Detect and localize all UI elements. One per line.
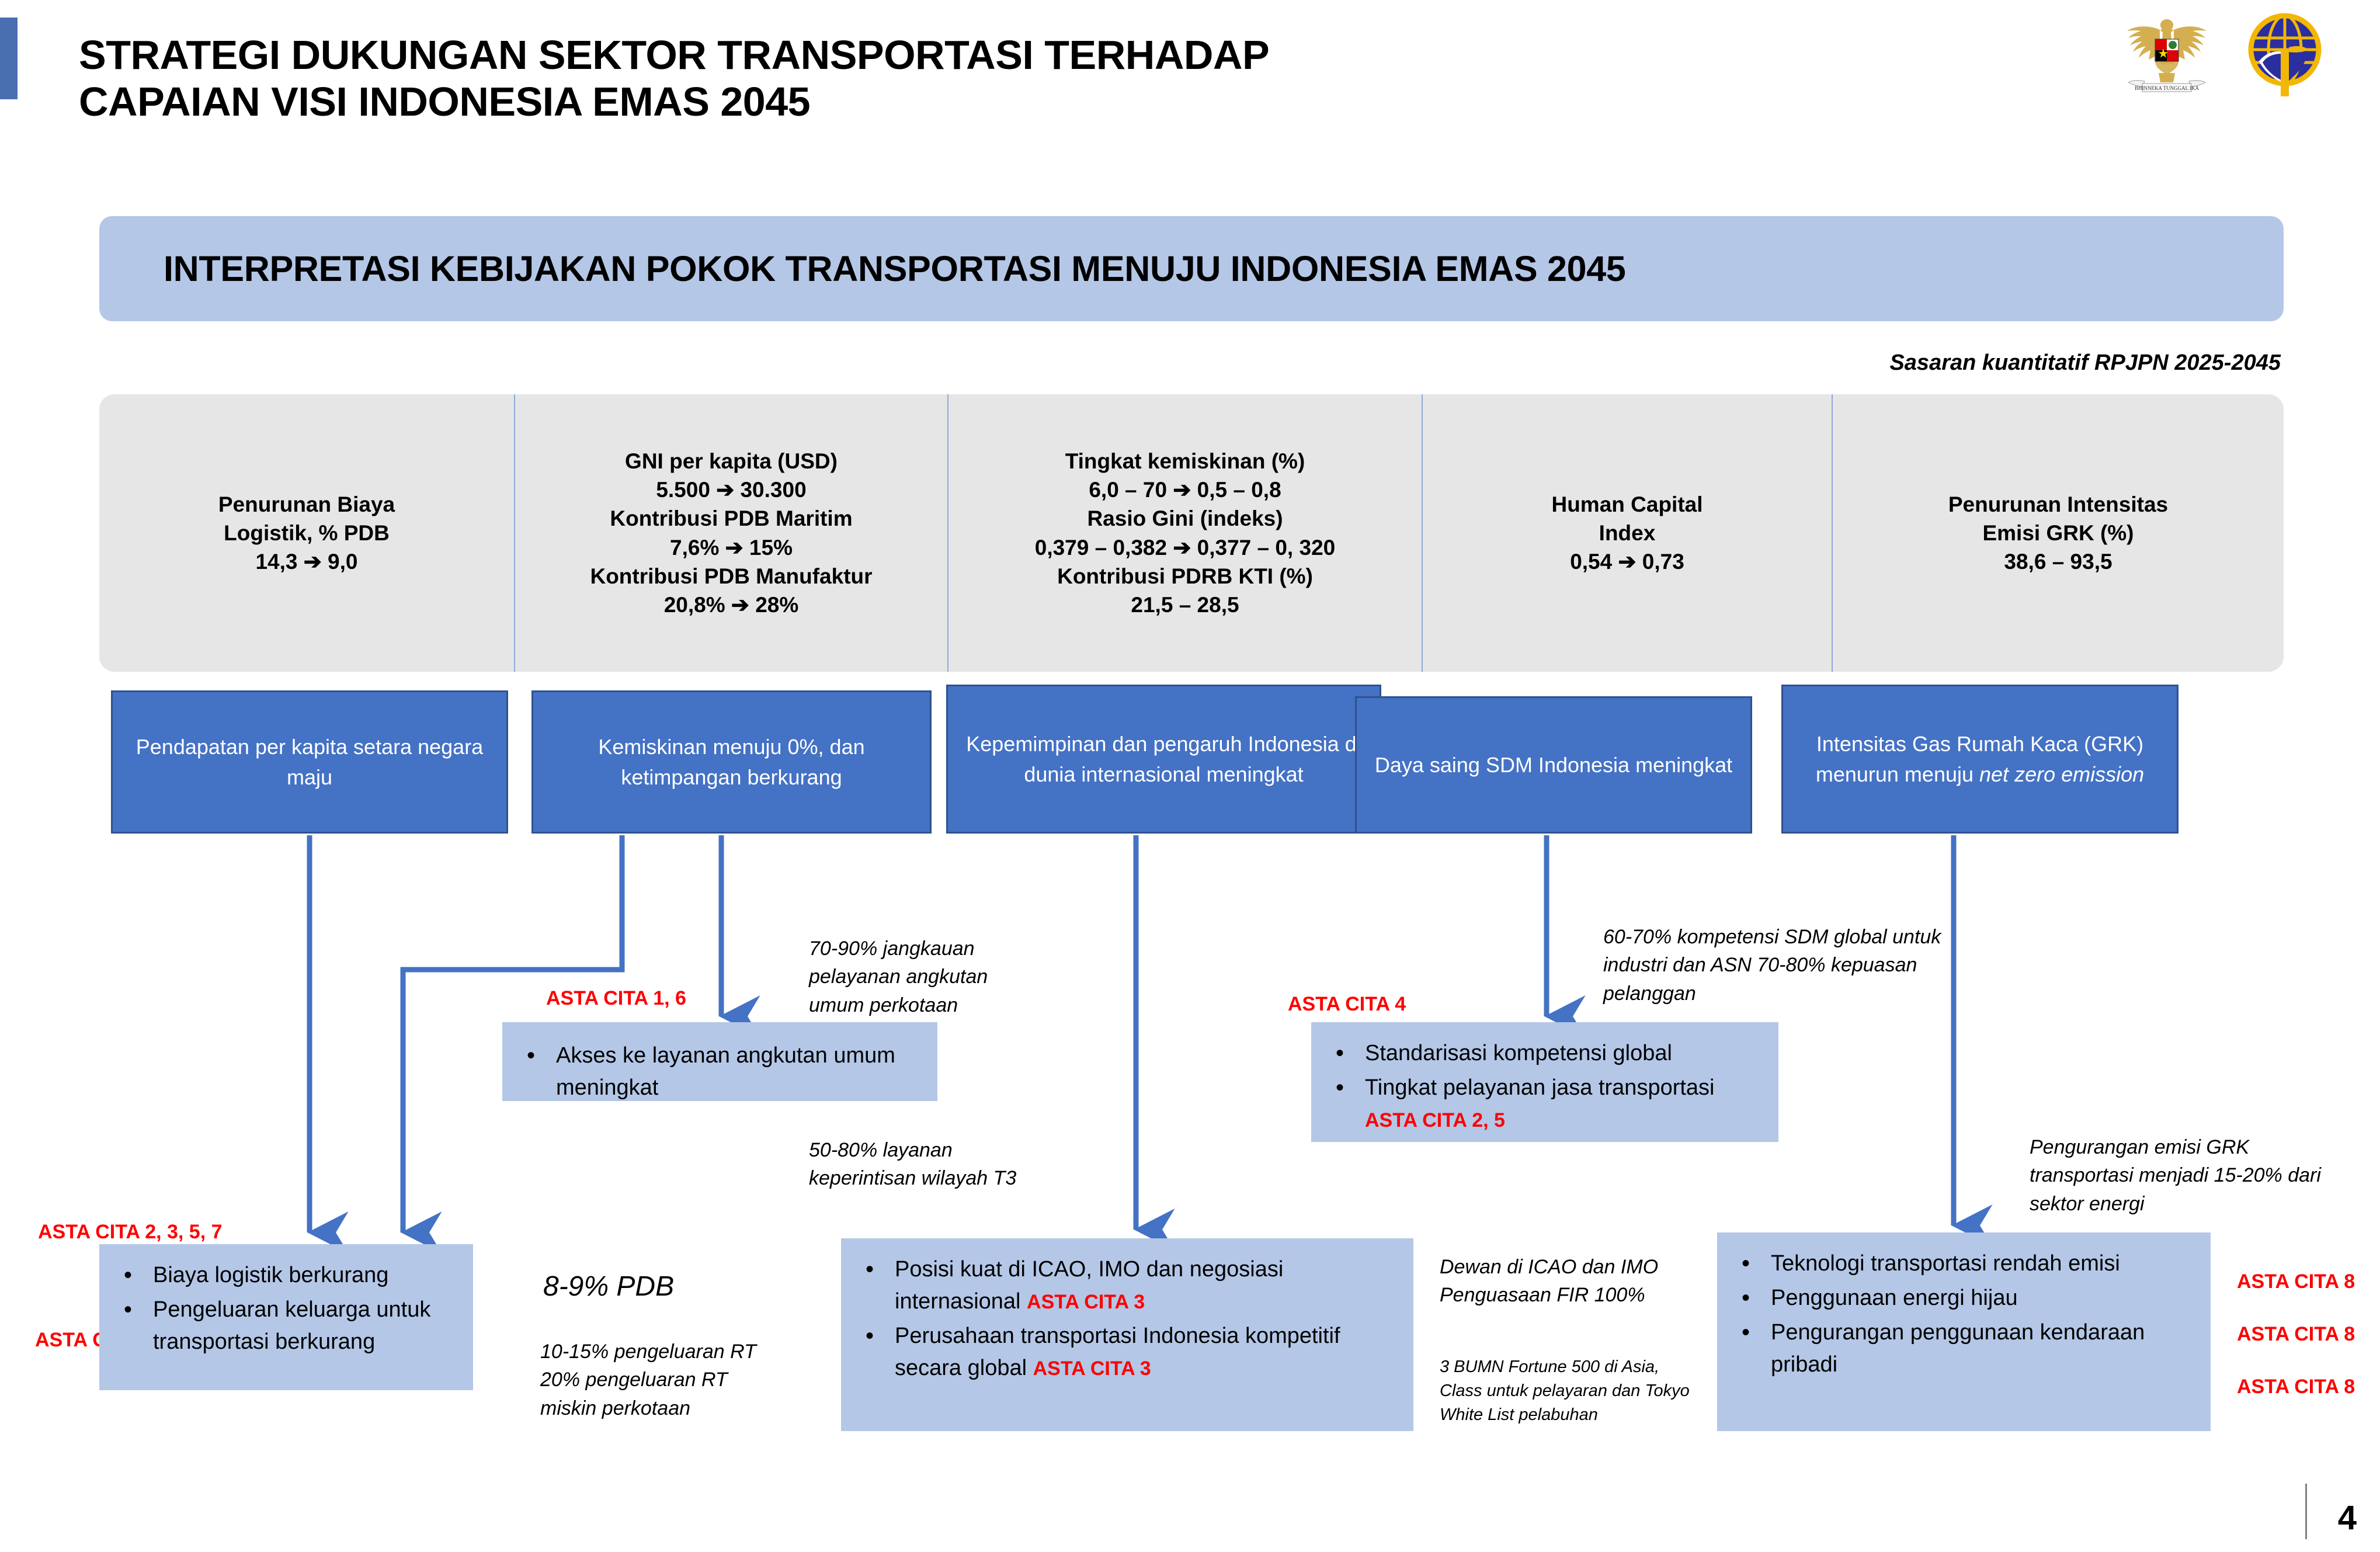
list-item: Penggunaan energi hijau (1771, 1282, 2191, 1314)
asta-cita-label-grk-1: ASTA CITA 8 (2237, 1270, 2355, 1293)
outcome-box-kepemimpinan[interactable]: Kepemimpinan dan pengaruh Indonesia di d… (946, 685, 1381, 834)
section-banner: INTERPRETASI KEBIJAKAN POKOK TRANSPORTAS… (99, 216, 2284, 321)
kpi-line: Penurunan Biaya (218, 490, 395, 519)
kpi-line: Kontribusi PDB Manufaktur (590, 562, 872, 591)
strategy-box-akses[interactable]: Akses ke layanan angkutan umum meningkat (502, 1022, 937, 1101)
strategy-box-sdm[interactable]: Standarisasi kompetensi global Tingkat p… (1311, 1022, 1778, 1142)
logo-row: BHINNEKA TUNGGAL IKA (2120, 9, 2330, 99)
outcome-box-kemiskinan[interactable]: Kemiskinan menuju 0%, dan ketimpangan be… (531, 690, 932, 834)
kpi-line: Kontribusi PDRB KTI (%) (1057, 562, 1313, 591)
kpi-line: Index (1599, 519, 1656, 547)
outcome-box-label: Kemiskinan menuju 0%, dan ketimpangan be… (547, 732, 916, 791)
list-item: Biaya logistik berkurang (153, 1259, 453, 1291)
annotation-bumn-fortune: 3 BUMN Fortune 500 di Asia, Class untuk … (1440, 1355, 1691, 1428)
sasaran-label: Sasaran kuantitatif RPJPN 2025-2045 (1889, 350, 2281, 376)
outcome-box-label-italic: net zero emission (1979, 762, 2144, 786)
kpi-line: GNI per kapita (USD) (625, 447, 838, 475)
list-item: Perusahaan transportasi Indonesia kompet… (895, 1320, 1394, 1384)
kpi-cell-gni: GNI per kapita (USD) 5.500 ➔ 30.300 Kont… (514, 394, 947, 672)
strategy-box-grk[interactable]: Teknologi transportasi rendah emisi Peng… (1717, 1232, 2211, 1431)
kpi-line: Emisi GRK (%) (1982, 519, 2134, 547)
kpi-line: 5.500 ➔ 30.300 (656, 475, 806, 504)
asta-cita-label-sdm: ASTA CITA 4 (1288, 993, 1406, 1016)
page-title: STRATEGI DUKUNGAN SEKTOR TRANSPORTASI TE… (79, 32, 1773, 126)
outcome-box-label: Daya saing SDM Indonesia meningkat (1375, 750, 1732, 780)
outcome-box-label: Kepemimpinan dan pengaruh Indonesia di d… (962, 729, 1366, 789)
banner-title: INTERPRETASI KEBIJAKAN POKOK TRANSPORTAS… (99, 248, 1626, 289)
asta-cita-inline-icao-1: ASTA CITA 3 (1027, 1291, 1145, 1313)
list-item: Pengurangan penggunaan kendaraan pribadi (1771, 1317, 2191, 1381)
kpi-line: 0,379 – 0,382 ➔ 0,377 – 0, 320 (1035, 533, 1335, 562)
asta-cita-label-grk-3: ASTA CITA 8 (2237, 1376, 2355, 1398)
kpi-cell-hci: Human Capital Index 0,54 ➔ 0,73 (1422, 394, 1832, 672)
annotation-icao-imo: Dewan di ICAO dan IMO Penguasaan FIR 100… (1440, 1253, 1691, 1310)
kpi-line: 38,6 – 93,5 (2004, 547, 2112, 576)
kpi-line: Logistik, % PDB (224, 519, 390, 547)
annotation-emisi-grk: Pengurangan emisi GRK transportasi menja… (2030, 1133, 2322, 1218)
annotation-kompetensi-sdm: 60-70% kompetensi SDM global untuk indus… (1603, 923, 1965, 1008)
annotation-pengeluaran-rt: 10-15% pengeluaran RT 20% pengeluaran RT… (540, 1338, 786, 1422)
annotation-pdb-big: 8-9% PDB (543, 1270, 674, 1303)
asta-cita-label-grk-2: ASTA CITA 8 (2237, 1323, 2355, 1346)
kpi-cell-emisi: Penurunan Intensitas Emisi GRK (%) 38,6 … (1832, 394, 2284, 672)
asta-cita-inline-icao-2: ASTA CITA 3 (1033, 1357, 1151, 1380)
kpi-band: Penurunan Biaya Logistik, % PDB 14,3 ➔ 9… (99, 394, 2284, 672)
outcome-box-label: Intensitas Gas Rumah Kaca (GRK) menurun … (1797, 729, 2163, 789)
asta-cita-label-logistik-top: ASTA CITA 2, 3, 5, 7 (38, 1221, 223, 1244)
outcome-box-daya-saing-sdm[interactable]: Daya saing SDM Indonesia meningkat (1355, 696, 1752, 834)
kpi-line: 7,6% ➔ 15% (670, 533, 793, 562)
kpi-line: 0,54 ➔ 0,73 (1570, 547, 1684, 576)
footer-divider (2305, 1484, 2307, 1539)
page-title-line-2: CAPAIAN VISI INDONESIA EMAS 2045 (79, 79, 1773, 126)
kpi-cell-kemiskinan: Tingkat kemiskinan (%) 6,0 – 70 ➔ 0,5 – … (947, 394, 1422, 672)
page-title-line-1: STRATEGI DUKUNGAN SEKTOR TRANSPORTASI TE… (79, 32, 1773, 79)
kpi-line: Tingkat kemiskinan (%) (1065, 447, 1305, 475)
ministry-of-transportation-globe-icon (2240, 9, 2330, 99)
list-item: Standarisasi kompetensi global (1365, 1037, 1759, 1070)
outcome-box-label: Pendapatan per kapita setara negara maju (127, 732, 492, 791)
kpi-line: 6,0 – 70 ➔ 0,5 – 0,8 (1089, 475, 1281, 504)
kpi-line: 21,5 – 28,5 (1131, 591, 1239, 619)
annotation-angkutan-umum: 70-90% jangkauan pelayanan angkutan umum… (809, 935, 1043, 1019)
outcome-box-grk[interactable]: Intensitas Gas Rumah Kaca (GRK) menurun … (1781, 685, 2179, 834)
page-number: 4 (2338, 1498, 2357, 1537)
list-item: Posisi kuat di ICAO, IMO dan negosiasi i… (895, 1254, 1394, 1318)
kpi-line: Kontribusi PDB Maritim (610, 504, 852, 533)
kpi-line: Rasio Gini (indeks) (1087, 504, 1283, 533)
asta-cita-label-akses: ASTA CITA 1, 6 (546, 987, 686, 1010)
kpi-cell-logistik: Penurunan Biaya Logistik, % PDB 14,3 ➔ 9… (99, 394, 514, 672)
list-item-text: Tingkat pelayanan jasa transportasi (1365, 1075, 1715, 1100)
title-accent-bar (0, 18, 18, 99)
kpi-line: Human Capital (1551, 490, 1703, 519)
list-item: Teknologi transportasi rendah emisi (1771, 1248, 2191, 1280)
garuda-pancasila-emblem-icon: BHINNEKA TUNGGAL IKA (2120, 9, 2214, 99)
asta-cita-inline-sdm: ASTA CITA 2, 5 (1365, 1109, 1505, 1131)
strategy-box-logistik[interactable]: Biaya logistik berkurang Pengeluaran kel… (99, 1244, 473, 1390)
kpi-line: 14,3 ➔ 9,0 (255, 547, 357, 576)
kpi-line: 20,8% ➔ 28% (664, 591, 799, 619)
list-item: Tingkat pelayanan jasa transportasi ASTA… (1365, 1072, 1759, 1136)
outcome-box-pendapatan[interactable]: Pendapatan per kapita setara negara maju (111, 690, 508, 834)
svg-text:BHINNEKA TUNGGAL IKA: BHINNEKA TUNGGAL IKA (2135, 85, 2199, 91)
strategy-box-icao[interactable]: Posisi kuat di ICAO, IMO dan negosiasi i… (841, 1238, 1413, 1431)
list-item: Akses ke layanan angkutan umum meningkat (556, 1040, 918, 1104)
annotation-keperintisan: 50-80% layanan keperintisan wilayah T3 (809, 1136, 1025, 1193)
kpi-line: Penurunan Intensitas (1948, 490, 2168, 519)
list-item: Pengeluaran keluarga untuk transportasi … (153, 1294, 453, 1358)
